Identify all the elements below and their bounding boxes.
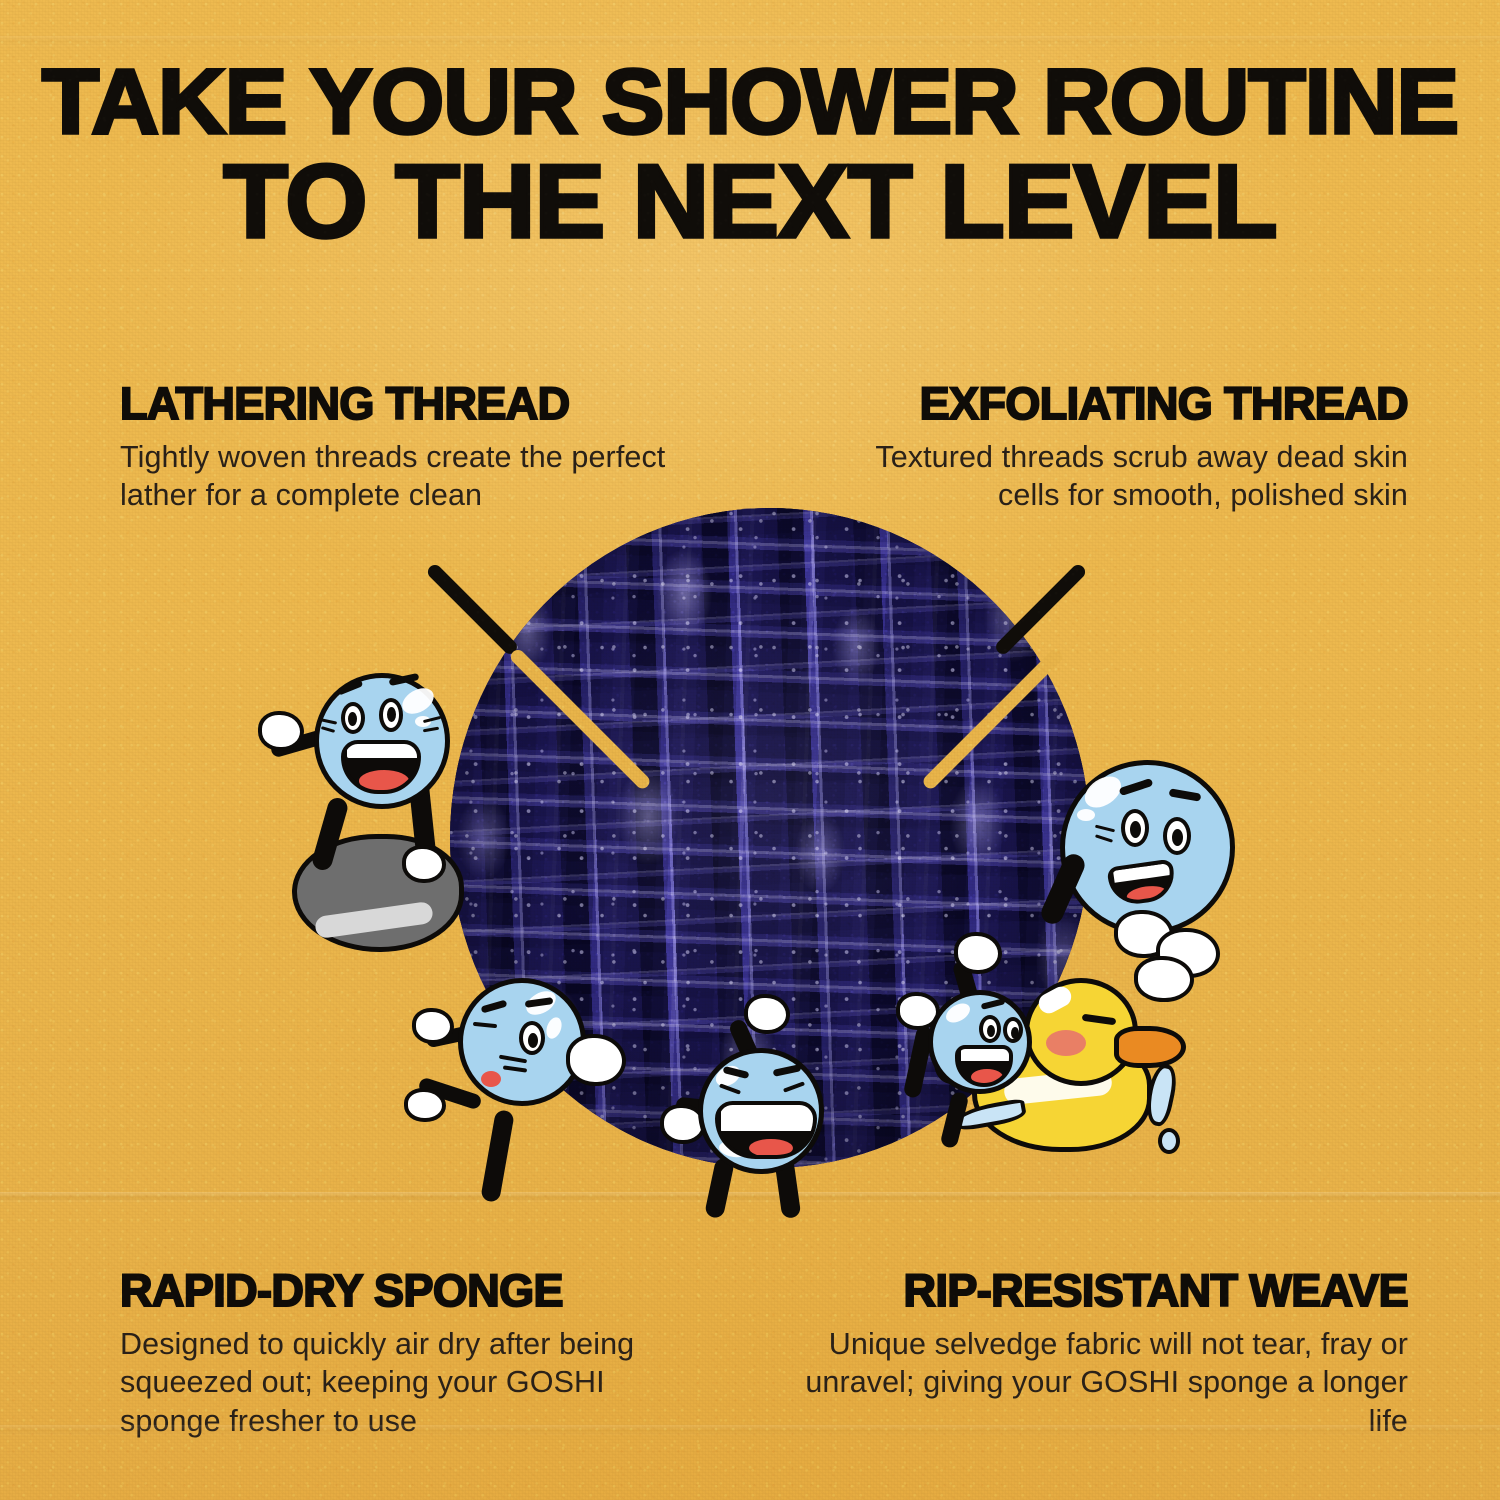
feature-exfoliating-thread: EXFOLIATING THREAD Textured threads scru… [808, 378, 1408, 515]
paper-crease-top [0, 36, 1500, 46]
headline-line-1: TAKE YOUR SHOWER ROUTINE [0, 62, 1500, 143]
bubble-character-cheering [902, 930, 1102, 1160]
feature-lathering-thread: LATHERING THREAD Tightly woven threads c… [120, 378, 680, 515]
feature-title-rapid-dry-sponge: RAPID-DRY SPONGE [120, 1265, 690, 1317]
feature-title-rip-resistant-weave: RIP-RESISTANT WEAVE [788, 1265, 1408, 1317]
feature-body-exfoliating-thread: Textured threads scrub away dead skin ce… [808, 438, 1408, 515]
headline-line-2: TO THE NEXT LEVEL [0, 157, 1500, 249]
bubble-character-dancing [418, 968, 678, 1218]
feature-rapid-dry-sponge: RAPID-DRY SPONGE Designed to quickly air… [120, 1265, 690, 1440]
bubble-character-waving [262, 655, 512, 905]
feature-body-rip-resistant-weave: Unique selvedge fabric will not tear, fr… [788, 1325, 1408, 1440]
headline: TAKE YOUR SHOWER ROUTINE TO THE NEXT LEV… [0, 62, 1500, 248]
feature-title-lathering-thread: LATHERING THREAD [120, 378, 680, 430]
poster-root: TAKE YOUR SHOWER ROUTINE TO THE NEXT LEV… [0, 0, 1500, 1500]
feature-body-lathering-thread: Tightly woven threads create the perfect… [120, 438, 680, 515]
feature-title-exfoliating-thread: EXFOLIATING THREAD [808, 378, 1408, 430]
feature-body-rapid-dry-sponge: Designed to quickly air dry after being … [120, 1325, 690, 1440]
feature-rip-resistant-weave: RIP-RESISTANT WEAVE Unique selvedge fabr… [788, 1265, 1408, 1440]
bubble-character-grinning [660, 1008, 880, 1218]
